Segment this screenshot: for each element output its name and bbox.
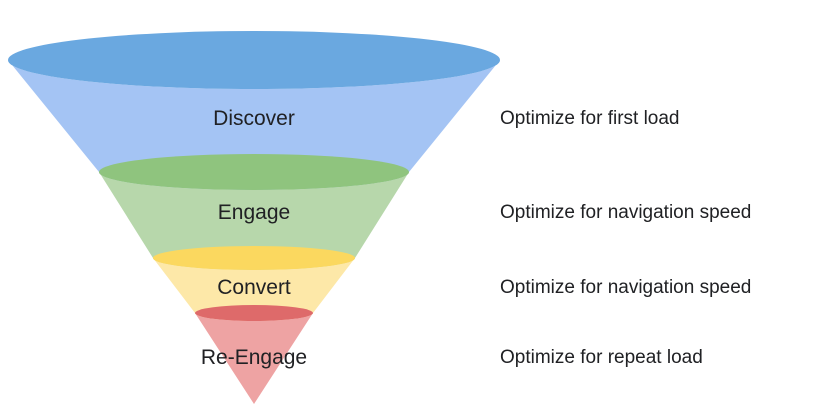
- funnel-annotation-convert: Optimize for navigation speed: [500, 277, 751, 299]
- funnel-stage-label-re-engage: Re-Engage: [201, 346, 307, 370]
- funnel-annotation-engage: Optimize for navigation speed: [500, 202, 751, 224]
- funnel-diagram: DiscoverEngageConvertRe-Engage Optimize …: [0, 0, 837, 417]
- funnel-stage-label-discover: Discover: [213, 107, 295, 131]
- funnel-stage-label-engage: Engage: [218, 201, 290, 225]
- funnel-band-top-engage: [99, 154, 409, 190]
- funnel-band-top-discover: [8, 31, 500, 89]
- funnel-annotation-discover: Optimize for first load: [500, 108, 680, 130]
- funnel-stage-label-convert: Convert: [217, 276, 291, 300]
- funnel-annotation-re-engage: Optimize for repeat load: [500, 347, 703, 369]
- funnel-band-top-re-engage: [195, 305, 313, 321]
- funnel-band-top-convert: [153, 246, 355, 270]
